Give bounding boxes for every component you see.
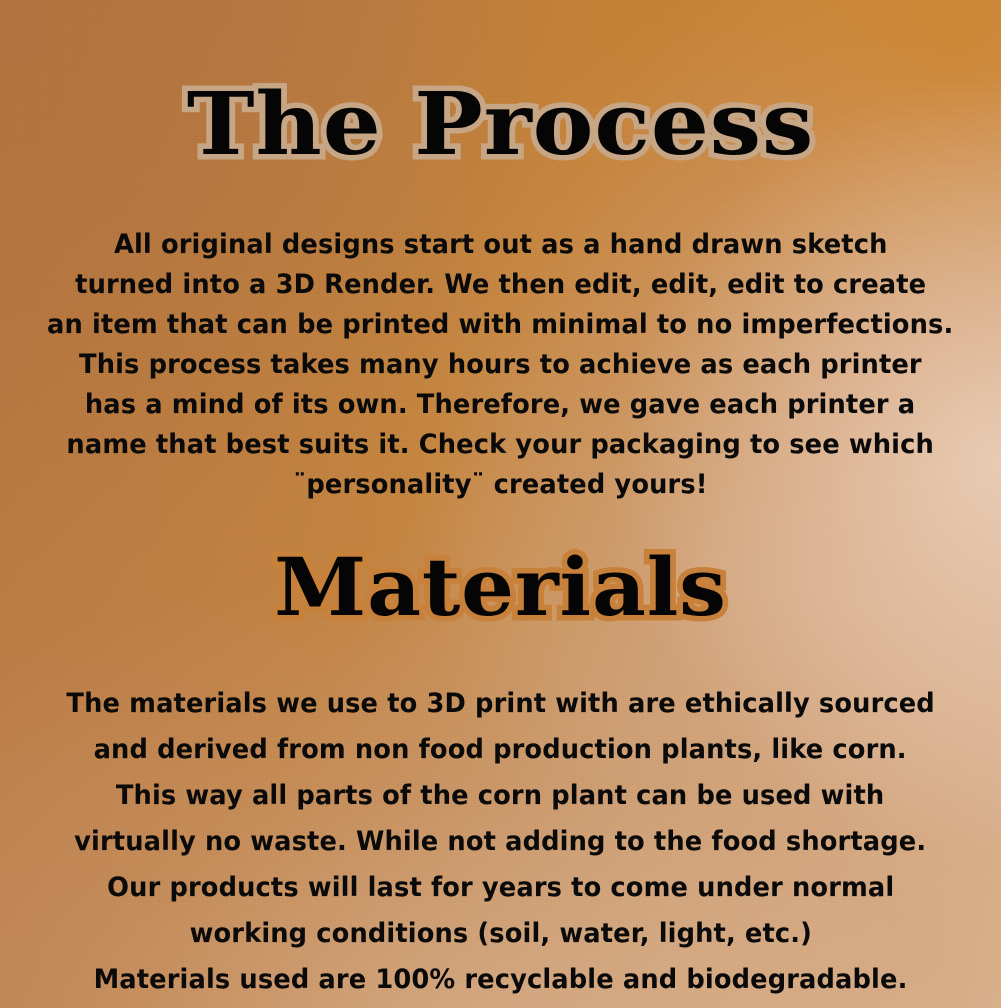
process-line: name that best suits it. Check your pack… [26,425,975,465]
process-line-text: turned into a 3D Render. We then edit, e… [75,265,926,305]
process-paragraph: All original designs start out as a hand… [0,225,1001,505]
page-title-the-process: The Process [0,58,1001,168]
materials-line-text: Our products will last for years to come… [107,865,894,911]
process-line: an item that can be printed with minimal… [26,305,975,345]
materials-line: and derived from non food production pla… [26,727,975,773]
materials-paragraph: The materials we use to 3D print with ar… [0,681,1001,1003]
materials-line: Our products will last for years to come… [26,865,975,911]
materials-line-text: virtually no waste. While not adding to … [74,819,926,865]
materials-line: The materials we use to 3D print with ar… [26,681,975,727]
process-line: has a mind of its own. Therefore, we gav… [26,385,975,425]
process-line-text: All original designs start out as a hand… [114,225,888,265]
page-title-materials: Materials [0,547,1001,627]
materials-line: Materials used are 100% recyclable and b… [26,957,975,1003]
materials-line-text: working conditions (soil, water, light, … [189,911,811,957]
poster-content: The Process All original designs start o… [0,58,1001,1008]
materials-line-text: Materials used are 100% recyclable and b… [94,957,908,1003]
process-line-text: an item that can be printed with minimal… [47,305,953,345]
materials-line: This way all parts of the corn plant can… [26,773,975,819]
process-line: All original designs start out as a hand… [26,225,975,265]
materials-line-text: and derived from non food production pla… [94,727,907,773]
process-line: ¨personality¨ created yours! [26,465,975,505]
poster-canvas: The Process All original designs start o… [0,0,1001,1008]
process-line: turned into a 3D Render. We then edit, e… [26,265,975,305]
process-line-text: ¨personality¨ created yours! [293,465,707,505]
materials-line: working conditions (soil, water, light, … [26,911,975,957]
materials-line-text: The materials we use to 3D print with ar… [66,681,934,727]
process-line-text: has a mind of its own. Therefore, we gav… [85,385,915,425]
process-line: This process takes many hours to achieve… [26,345,975,385]
materials-line: virtually no waste. While not adding to … [26,819,975,865]
process-line-text: name that best suits it. Check your pack… [67,425,934,465]
materials-line-text: This way all parts of the corn plant can… [116,773,884,819]
process-line-text: This process takes many hours to achieve… [79,345,922,385]
